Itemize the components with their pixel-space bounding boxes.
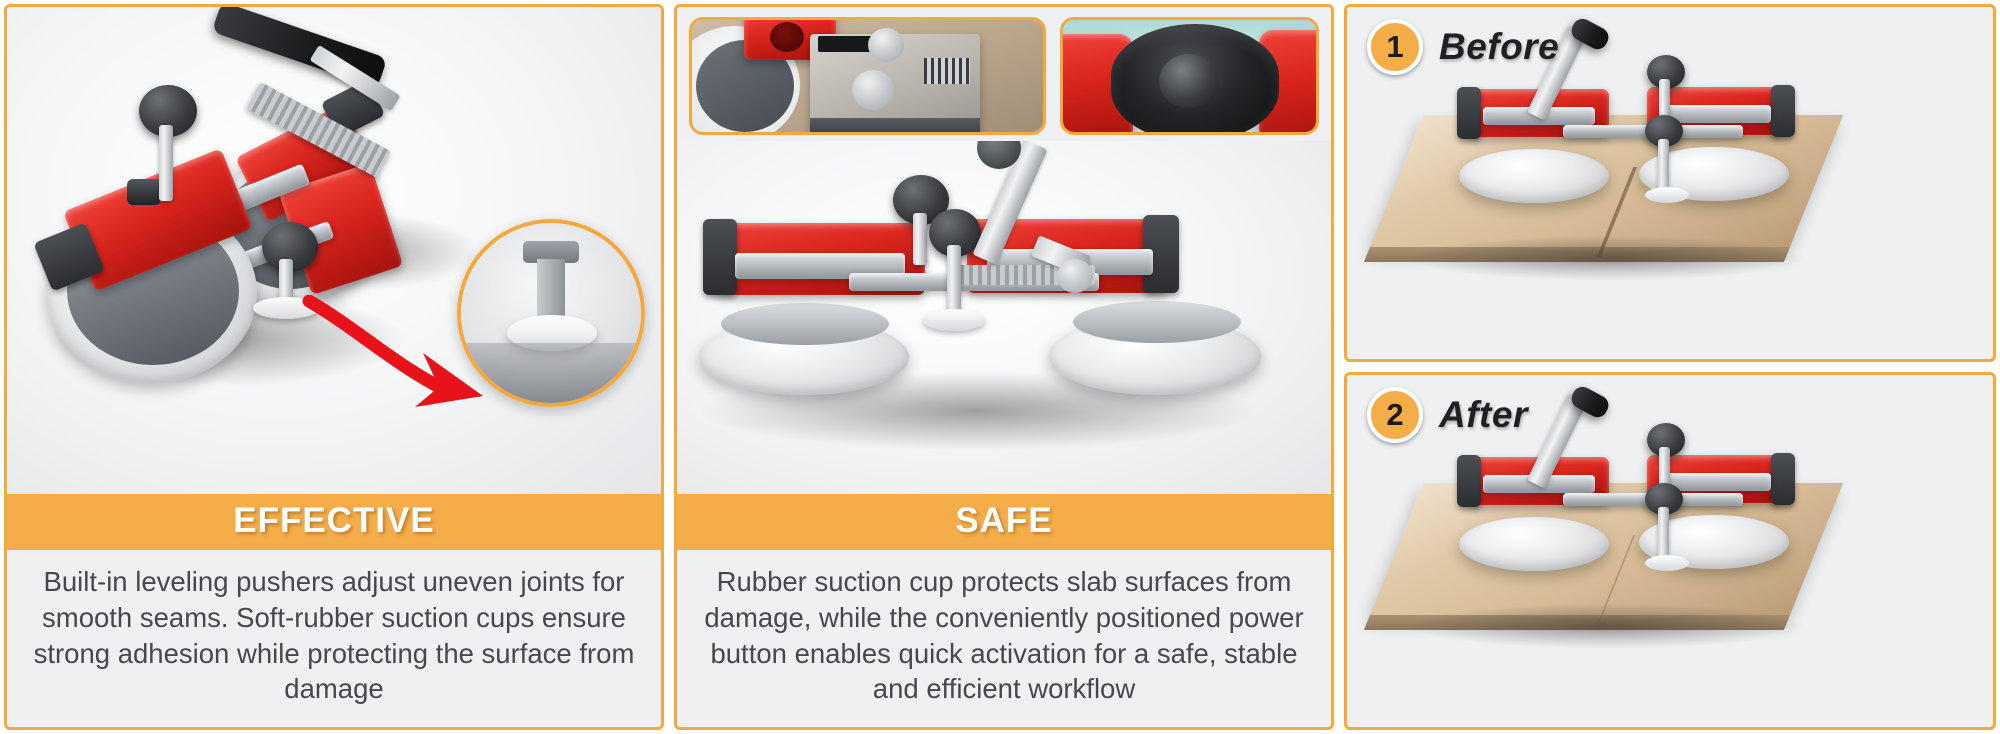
panel-safe: SAFE Rubber suction cup protects slab su… bbox=[674, 4, 1334, 730]
before-pad-right bbox=[1771, 85, 1795, 137]
safe-plate-left bbox=[721, 303, 889, 345]
thumb-a-bolt-2 bbox=[852, 70, 894, 110]
step-label-after: After bbox=[1439, 394, 1528, 436]
thumb-b-nipple bbox=[1159, 54, 1219, 108]
caption-effective: EFFECTIVE bbox=[7, 494, 661, 550]
safe-plate-right bbox=[1073, 301, 1241, 343]
after-pad-left bbox=[1457, 455, 1481, 507]
power-button bbox=[127, 179, 161, 205]
magnifier-inset bbox=[457, 219, 645, 407]
safe-pusher-foot bbox=[923, 309, 985, 331]
adjust-screw-upper bbox=[159, 125, 173, 201]
body-effective: Built-in leveling pushers adjust uneven … bbox=[7, 550, 661, 727]
thumb-a-port bbox=[770, 22, 804, 52]
step-card-before: 1 Before bbox=[1344, 4, 1996, 362]
safe-screw-left bbox=[913, 213, 927, 265]
after-suction-left bbox=[1459, 517, 1609, 571]
thumbnail-suction-cup[interactable] bbox=[1060, 17, 1319, 135]
thumb-a-base bbox=[810, 118, 980, 135]
step-header-after: 2 After bbox=[1367, 387, 1528, 443]
after-pad-right bbox=[1771, 453, 1795, 505]
thumb-a-bolt-1 bbox=[868, 28, 904, 62]
pusher-stem bbox=[537, 259, 565, 321]
panel-effective: EFFECTIVE Built-in leveling pushers adju… bbox=[4, 4, 664, 730]
step-header-before: 1 Before bbox=[1367, 19, 1559, 75]
caption-safe: SAFE bbox=[677, 494, 1331, 550]
after-pusher-foot bbox=[1645, 555, 1689, 571]
before-slab-shadow bbox=[1407, 235, 1807, 281]
body-safe: Rubber suction cup protects slab surface… bbox=[677, 550, 1331, 727]
magnifier-surface bbox=[461, 343, 641, 403]
before-pad-left bbox=[1457, 87, 1481, 139]
safe-screw-mid bbox=[947, 245, 961, 317]
after-slab-shadow bbox=[1407, 603, 1807, 649]
step-badge-1: 1 bbox=[1367, 19, 1423, 75]
before-pusher-foot bbox=[1645, 187, 1689, 203]
after-screw-bottom bbox=[1658, 507, 1669, 559]
effective-hero-image bbox=[7, 7, 661, 494]
thumbnail-power-button[interactable] bbox=[689, 17, 1046, 135]
before-suction-left bbox=[1459, 149, 1609, 203]
safe-lever-bolt bbox=[1057, 259, 1093, 293]
safe-hero-image bbox=[677, 141, 1331, 494]
safe-pad-left bbox=[703, 219, 737, 295]
infographic-sheet: EFFECTIVE Built-in leveling pushers adju… bbox=[0, 0, 2000, 734]
step-label-before: Before bbox=[1439, 26, 1559, 68]
before-screw-bottom bbox=[1658, 139, 1669, 191]
step-card-after: 2 After bbox=[1344, 372, 1996, 730]
thumb-a-teeth bbox=[924, 58, 970, 84]
panel-steps: 1 Before bbox=[1344, 4, 1996, 730]
safe-thumbnail-row bbox=[677, 7, 1331, 141]
step-badge-2: 2 bbox=[1367, 387, 1423, 443]
